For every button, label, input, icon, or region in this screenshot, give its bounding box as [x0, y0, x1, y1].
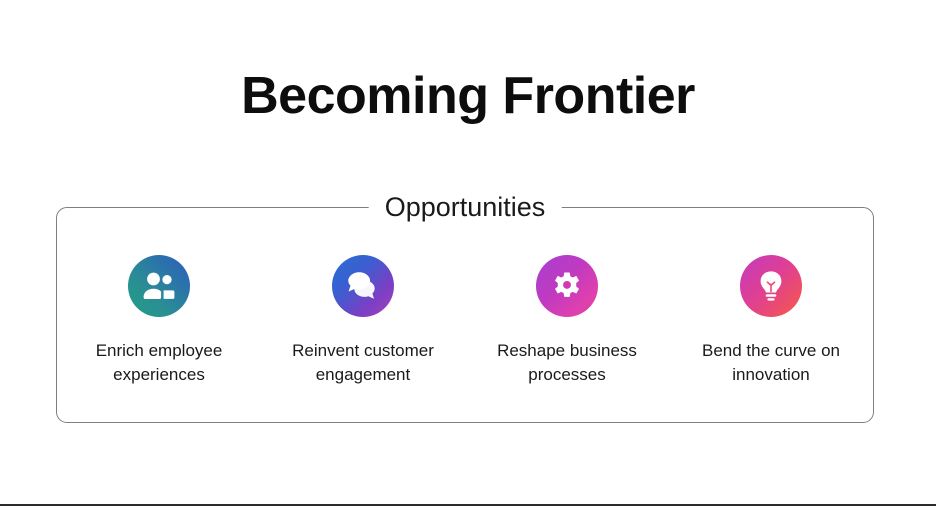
opportunity-item-bend-the-curve-on-innovation[interactable]: Bend the curve on innovation: [671, 255, 871, 387]
chat-bubbles-icon: [332, 255, 394, 317]
opportunity-item-label: Enrich employee experiences: [96, 339, 223, 387]
opportunity-item-label: Reshape business processes: [497, 339, 637, 387]
opportunity-item-reinvent-customer-engagement[interactable]: Reinvent customer engagement: [263, 255, 463, 387]
slide-canvas: Becoming Frontier Opportunities Enrich e…: [0, 0, 936, 512]
opportunity-item-reshape-business-processes[interactable]: Reshape business processes: [467, 255, 667, 387]
gear-icon: [536, 255, 598, 317]
opportunity-item-label: Bend the curve on innovation: [702, 339, 840, 387]
opportunities-group: Opportunities Enrich employee experience…: [56, 207, 874, 423]
lightbulb-icon: [740, 255, 802, 317]
opportunity-item-label: Reinvent customer engagement: [292, 339, 434, 387]
page-title: Becoming Frontier: [0, 68, 936, 125]
opportunity-item-enrich-employee-experiences[interactable]: Enrich employee experiences: [59, 255, 259, 387]
footer-divider: [0, 504, 936, 506]
opportunity-items-row: Enrich employee experiences Reinvent cus…: [57, 208, 873, 422]
people-icon: [128, 255, 190, 317]
